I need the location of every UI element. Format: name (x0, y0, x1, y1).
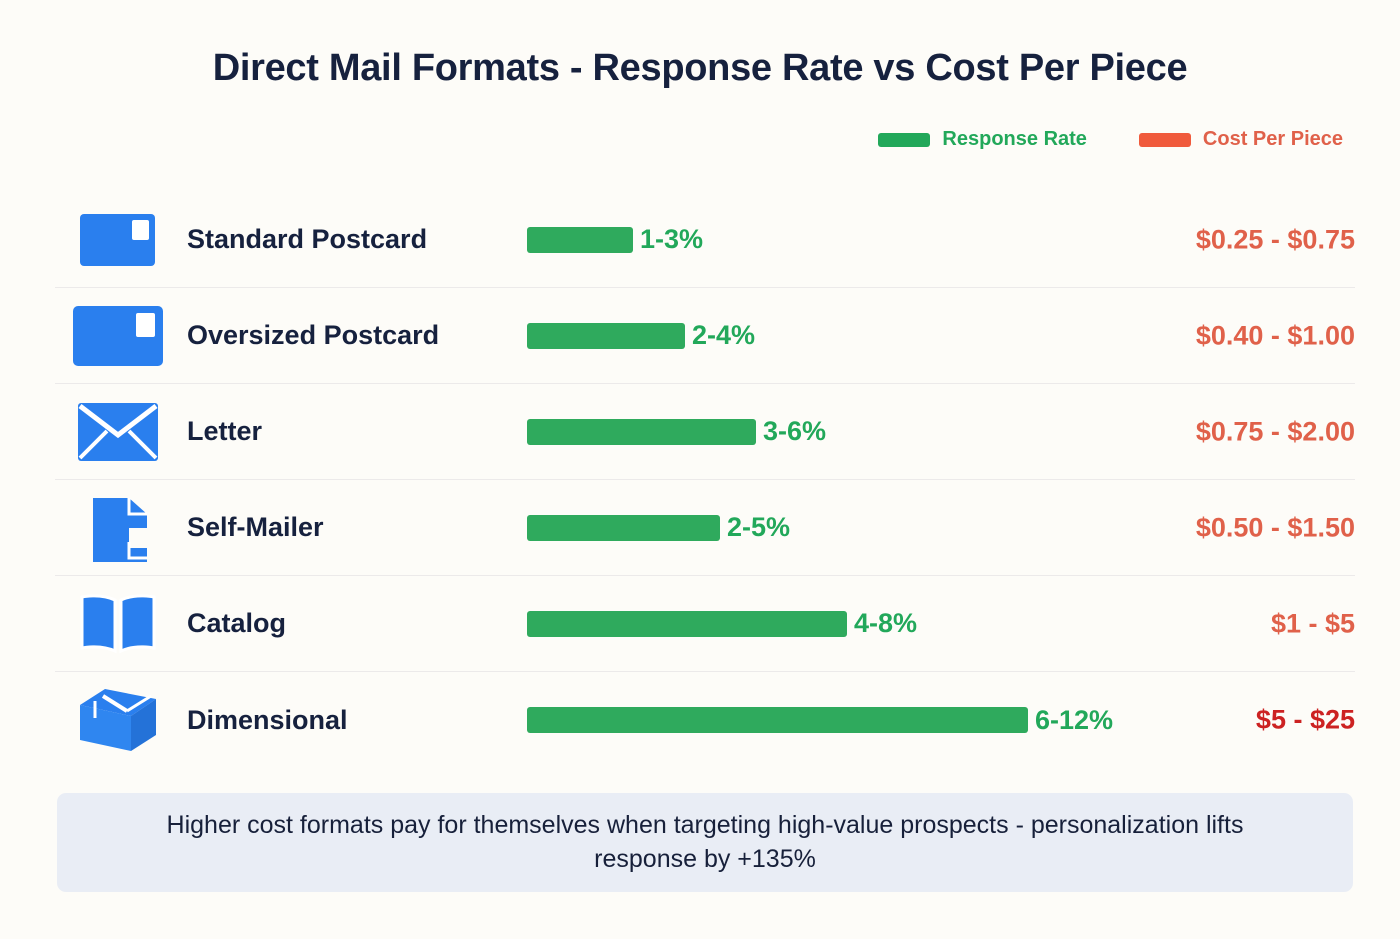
response-bar (527, 707, 1028, 733)
table-row: Standard Postcard 1-3% $0.25 - $0.75 (55, 192, 1355, 288)
response-bar (527, 611, 847, 637)
table-row: Catalog 4-8% $1 - $5 (55, 576, 1355, 672)
table-row: Oversized Postcard 2-4% $0.40 - $1.00 (55, 288, 1355, 384)
postcard-icon (55, 214, 180, 266)
format-name: Letter (180, 416, 527, 447)
response-bar-cell: 4-8% (527, 608, 1355, 639)
response-value: 1-3% (640, 224, 703, 255)
format-name: Catalog (180, 608, 527, 639)
legend-swatch-cost-icon (1139, 133, 1191, 147)
response-value: 6-12% (1035, 705, 1113, 736)
format-name: Oversized Postcard (180, 320, 527, 351)
table-row: Dimensional 6-12% $5 - $25 (55, 672, 1355, 768)
table-row: Letter 3-6% $0.75 - $2.00 (55, 384, 1355, 480)
envelope-icon (55, 403, 180, 461)
response-value: 2-4% (692, 320, 755, 351)
response-bar (527, 323, 685, 349)
format-name: Dimensional (180, 705, 527, 736)
cost-value: $0.50 - $1.50 (1196, 512, 1355, 543)
format-rows: Standard Postcard 1-3% $0.25 - $0.75 Ove… (55, 192, 1355, 768)
infographic-canvas: Direct Mail Formats - Response Rate vs C… (0, 0, 1400, 939)
oversized-postcard-icon (55, 306, 180, 366)
cost-value: $0.25 - $0.75 (1196, 224, 1355, 255)
legend-label-cost: Cost Per Piece (1203, 128, 1343, 151)
response-value: 3-6% (763, 416, 826, 447)
cost-value: $0.40 - $1.00 (1196, 320, 1355, 351)
dimensional-box-icon (55, 685, 180, 755)
legend: Response Rate Cost Per Piece (878, 128, 1343, 151)
insight-banner: Higher cost formats pay for themselves w… (57, 793, 1353, 892)
response-value: 4-8% (854, 608, 917, 639)
response-bar (527, 419, 756, 445)
legend-swatch-response-icon (878, 133, 930, 147)
response-value: 2-5% (727, 512, 790, 543)
catalog-icon (55, 591, 180, 657)
response-bar-cell: 6-12% (527, 705, 1355, 736)
legend-label-response: Response Rate (942, 128, 1087, 151)
cost-value: $0.75 - $2.00 (1196, 416, 1355, 447)
legend-item-cost-per-piece: Cost Per Piece (1139, 128, 1343, 151)
format-name: Self-Mailer (180, 512, 527, 543)
format-name: Standard Postcard (180, 224, 527, 255)
cost-value: $5 - $25 (1256, 705, 1355, 736)
cost-value: $1 - $5 (1271, 608, 1355, 639)
response-bar (527, 227, 633, 253)
legend-item-response-rate: Response Rate (878, 128, 1087, 151)
page-title: Direct Mail Formats - Response Rate vs C… (0, 47, 1400, 90)
insight-text: Higher cost formats pay for themselves w… (117, 809, 1293, 877)
self-mailer-icon (55, 494, 180, 562)
table-row: Self-Mailer 2-5% $0.50 - $1.50 (55, 480, 1355, 576)
response-bar (527, 515, 720, 541)
